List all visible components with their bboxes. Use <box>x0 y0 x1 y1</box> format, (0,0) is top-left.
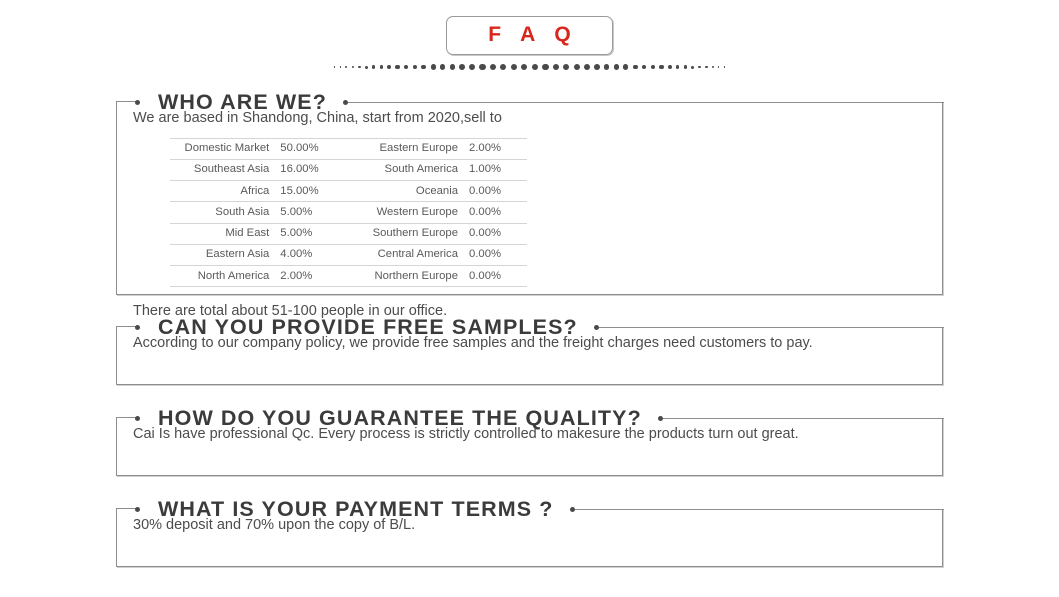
divider-dot <box>352 66 354 68</box>
table-cell-region: Eastern Asia <box>170 244 280 265</box>
table-row: South Asia5.00%Western Europe0.00% <box>170 202 527 223</box>
divider-dot <box>718 66 720 68</box>
table-cell-pct2: 0.00% <box>469 181 527 202</box>
divider-dot <box>380 65 384 69</box>
dotted-divider <box>0 60 1059 74</box>
section-intro-text: We are based in Shandong, China, start f… <box>133 109 943 129</box>
divider-dot <box>698 66 701 69</box>
table-row: Eastern Asia4.00%Central America0.00% <box>170 244 527 265</box>
divider-dot <box>724 66 725 67</box>
table-cell-region: Southeast Asia <box>170 159 280 180</box>
divider-dot <box>614 64 619 69</box>
divider-dot <box>413 65 418 70</box>
divider-dot <box>705 66 707 68</box>
table-cell-pct2: 0.00% <box>469 266 527 287</box>
section-body: We are based in Shandong, China, start f… <box>116 92 943 322</box>
divider-dot <box>532 64 538 70</box>
table-row: Southeast Asia16.00%South America1.00% <box>170 159 527 180</box>
table-cell-region: South Asia <box>170 202 280 223</box>
divider-dot <box>479 64 485 70</box>
divider-dot <box>365 66 368 69</box>
table-cell-pct: 4.00% <box>280 244 352 265</box>
divider-dot <box>604 64 610 70</box>
section-body: 30% deposit and 70% upon the copy of B/L… <box>116 499 943 536</box>
divider-dot <box>334 66 335 67</box>
divider-dot <box>440 64 445 69</box>
table-cell-region2: Northern Europe <box>352 266 469 287</box>
table-row: Domestic Market50.00%Eastern Europe2.00% <box>170 138 527 159</box>
divider-dot <box>642 65 647 70</box>
divider-dot <box>553 64 559 70</box>
divider-dot <box>421 65 426 70</box>
divider-dot <box>584 64 590 70</box>
divider-dot <box>358 66 361 69</box>
table-cell-pct2: 0.00% <box>469 223 527 244</box>
divider-dot <box>450 64 456 70</box>
section-intro-text: According to our company policy, we prov… <box>133 334 943 354</box>
table-cell-region2: Eastern Europe <box>352 138 469 159</box>
section-intro-text: Cai Is have professional Qc. Every proce… <box>133 425 943 445</box>
table-cell-region2: Central America <box>352 244 469 265</box>
table-cell-pct2: 2.00% <box>469 138 527 159</box>
divider-dot <box>691 66 694 69</box>
divider-dot <box>521 64 527 70</box>
divider-dot <box>395 65 399 69</box>
divider-dot <box>594 64 600 70</box>
market-distribution-table: Domestic Market50.00%Eastern Europe2.00%… <box>170 138 527 288</box>
divider-dot <box>623 64 628 69</box>
section-body: According to our company policy, we prov… <box>116 317 943 354</box>
table-cell-region: Mid East <box>170 223 280 244</box>
divider-dot <box>345 66 347 68</box>
table-cell-region2: Southern Europe <box>352 223 469 244</box>
table-cell-region2: Oceania <box>352 181 469 202</box>
divider-dot <box>490 64 496 70</box>
faq-section-free-samples: CAN YOU PROVIDE FREE SAMPLES? According … <box>116 317 943 385</box>
divider-dot <box>574 64 580 70</box>
faq-section-who-are-we: WHO ARE WE? We are based in Shandong, Ch… <box>116 92 943 295</box>
table-cell-pct: 2.00% <box>280 266 352 287</box>
table-cell-region2: Western Europe <box>352 202 469 223</box>
table-cell-region: North America <box>170 266 280 287</box>
table-cell-region2: South America <box>352 159 469 180</box>
section-intro-text: 30% deposit and 70% upon the copy of B/L… <box>133 516 943 536</box>
divider-dot <box>500 64 506 70</box>
table-cell-pct: 15.00% <box>280 181 352 202</box>
table-cell-region: Domestic Market <box>170 138 280 159</box>
divider-dot <box>659 65 663 69</box>
divider-dot <box>372 65 375 68</box>
table-cell-pct2: 0.00% <box>469 244 527 265</box>
table-cell-pct2: 1.00% <box>469 159 527 180</box>
table-row: Africa15.00%Oceania0.00% <box>170 181 527 202</box>
table-cell-pct: 16.00% <box>280 159 352 180</box>
faq-title-container: F A Q <box>0 16 1059 55</box>
table-cell-pct2: 0.00% <box>469 202 527 223</box>
table-row: Mid East5.00%Southern Europe0.00% <box>170 223 527 244</box>
faq-section-quality: HOW DO YOU GUARANTEE THE QUALITY? Cai Is… <box>116 408 943 476</box>
divider-dot <box>431 64 436 69</box>
divider-dot <box>387 65 391 69</box>
faq-section-payment-terms: WHAT IS YOUR PAYMENT TERMS ? 30% deposit… <box>116 499 943 567</box>
table-cell-pct: 5.00% <box>280 202 352 223</box>
table-cell-pct: 50.00% <box>280 138 352 159</box>
divider-dot <box>651 65 655 69</box>
table-cell-pct: 5.00% <box>280 223 352 244</box>
divider-dot <box>511 64 517 70</box>
section-body: Cai Is have professional Qc. Every proce… <box>116 408 943 445</box>
divider-dot <box>459 64 465 70</box>
divider-dot <box>712 66 714 68</box>
divider-dot <box>676 65 680 69</box>
table-cell-region: Africa <box>170 181 280 202</box>
divider-dot <box>684 65 687 68</box>
divider-dot <box>340 66 342 68</box>
divider-dot <box>404 65 408 69</box>
divider-dot <box>469 64 475 70</box>
table-row: North America2.00%Northern Europe0.00% <box>170 266 527 287</box>
divider-dot <box>633 65 638 70</box>
faq-title: F A Q <box>446 16 612 55</box>
divider-dot <box>668 65 672 69</box>
divider-dot <box>542 64 548 70</box>
divider-dot <box>563 64 569 70</box>
